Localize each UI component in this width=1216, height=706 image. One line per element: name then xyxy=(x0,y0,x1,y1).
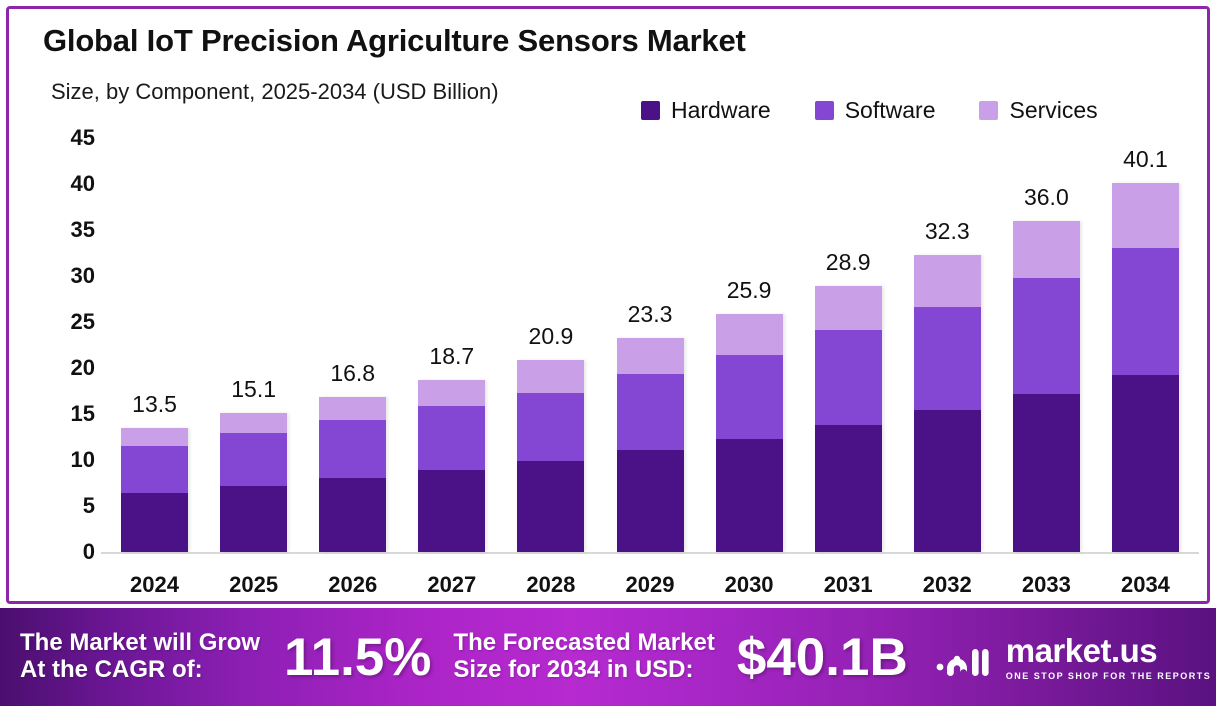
bar-segment-services[interactable] xyxy=(220,413,287,433)
bar-segment-services[interactable] xyxy=(517,360,584,393)
forecast-caption-line2: Size for 2034 in USD: xyxy=(453,656,693,683)
bar-stack[interactable] xyxy=(319,397,386,552)
bar-group[interactable]: 16.8 xyxy=(319,397,386,552)
bar-segment-software[interactable] xyxy=(319,420,386,478)
bar-group[interactable]: 18.7 xyxy=(418,380,485,552)
y-axis-tick: 45 xyxy=(71,125,95,151)
forecast-caption: The Forecasted Market Size for 2034 in U… xyxy=(453,630,714,684)
bar-stack[interactable] xyxy=(1112,183,1179,552)
bar-segment-software[interactable] xyxy=(716,355,783,439)
bar-segment-services[interactable] xyxy=(617,338,684,375)
bar-stack[interactable] xyxy=(220,413,287,552)
y-axis-tick: 15 xyxy=(71,401,95,427)
y-axis-tick: 35 xyxy=(71,217,95,243)
bar-segment-hardware[interactable] xyxy=(1112,375,1179,552)
cagr-caption-line1: The Market will Grow xyxy=(20,629,260,656)
bar-total-label: 40.1 xyxy=(1123,146,1168,173)
x-axis-label: 2033 xyxy=(1022,572,1071,598)
bar-segment-software[interactable] xyxy=(617,374,684,449)
y-axis-tick: 25 xyxy=(71,309,95,335)
bar-segment-software[interactable] xyxy=(517,393,584,461)
bar-total-label: 28.9 xyxy=(826,249,871,276)
bar-stack[interactable] xyxy=(121,428,188,552)
y-axis-tick: 10 xyxy=(71,447,95,473)
bar-group[interactable]: 36.0 xyxy=(1013,221,1080,552)
y-axis-tick: 40 xyxy=(71,171,95,197)
bar-segment-software[interactable] xyxy=(914,307,981,410)
cagr-value: 11.5% xyxy=(284,627,431,688)
x-axis-label: 2028 xyxy=(526,572,575,598)
infographic-root: Global IoT Precision Agriculture Sensors… xyxy=(0,0,1216,706)
bar-group[interactable]: 28.9 xyxy=(815,286,882,552)
bar-total-label: 16.8 xyxy=(330,360,375,387)
x-axis-label: 2027 xyxy=(427,572,476,598)
bar-total-label: 36.0 xyxy=(1024,184,1069,211)
bar-segment-hardware[interactable] xyxy=(418,470,485,552)
bar-segment-services[interactable] xyxy=(319,397,386,420)
bar-total-label: 15.1 xyxy=(231,376,276,403)
brand-logo[interactable]: market.us ONE STOP SHOP FOR THE REPORTS xyxy=(936,634,1212,681)
bar-segment-hardware[interactable] xyxy=(815,425,882,552)
bar-stack[interactable] xyxy=(815,286,882,552)
bar-group[interactable]: 32.3 xyxy=(914,255,981,552)
bar-group[interactable]: 23.3 xyxy=(617,338,684,552)
bar-segment-services[interactable] xyxy=(1112,183,1179,248)
bar-total-label: 13.5 xyxy=(132,391,177,418)
y-axis-tick: 30 xyxy=(71,263,95,289)
brand-name: market.us xyxy=(1006,634,1212,667)
forecast-value: $40.1B xyxy=(737,627,908,688)
bar-segment-services[interactable] xyxy=(121,428,188,446)
cagr-caption: The Market will Grow At the CAGR of: xyxy=(20,630,260,684)
bar-stack[interactable] xyxy=(914,255,981,552)
forecast-caption-line1: The Forecasted Market xyxy=(453,629,714,656)
x-axis-label: 2025 xyxy=(229,572,278,598)
bar-segment-services[interactable] xyxy=(815,286,882,330)
bar-segment-software[interactable] xyxy=(121,446,188,493)
y-axis: 051015202530354045 xyxy=(39,9,95,601)
bar-segment-software[interactable] xyxy=(220,433,287,485)
y-axis-tick: 5 xyxy=(83,493,95,519)
chart-card: Global IoT Precision Agriculture Sensors… xyxy=(9,9,1207,601)
brand-tagline: ONE STOP SHOP FOR THE REPORTS xyxy=(1006,671,1212,681)
x-axis-label: 2030 xyxy=(725,572,774,598)
brand-words: market.us ONE STOP SHOP FOR THE REPORTS xyxy=(1006,634,1212,681)
bar-stack[interactable] xyxy=(517,360,584,552)
bar-segment-services[interactable] xyxy=(418,380,485,406)
bar-segment-software[interactable] xyxy=(418,406,485,470)
bar-segment-services[interactable] xyxy=(1013,221,1080,278)
bar-segment-software[interactable] xyxy=(815,330,882,425)
bar-stack[interactable] xyxy=(1013,221,1080,552)
bar-segment-software[interactable] xyxy=(1013,278,1080,394)
bar-group[interactable]: 15.1 xyxy=(220,413,287,552)
x-axis-label: 2026 xyxy=(328,572,377,598)
bar-total-label: 32.3 xyxy=(925,218,970,245)
bar-segment-hardware[interactable] xyxy=(517,461,584,552)
chart-frame: Global IoT Precision Agriculture Sensors… xyxy=(6,6,1210,604)
y-axis-tick: 0 xyxy=(83,539,95,565)
bar-segment-services[interactable] xyxy=(914,255,981,307)
bar-total-label: 23.3 xyxy=(628,301,673,328)
bar-segment-hardware[interactable] xyxy=(220,486,287,552)
summary-banner: The Market will Grow At the CAGR of: 11.… xyxy=(0,608,1216,706)
bar-group[interactable]: 20.9 xyxy=(517,360,584,552)
x-axis-label: 2029 xyxy=(626,572,675,598)
bar-segment-services[interactable] xyxy=(716,314,783,355)
bar-segment-hardware[interactable] xyxy=(319,478,386,552)
x-axis-label: 2024 xyxy=(130,572,179,598)
bar-segment-hardware[interactable] xyxy=(716,439,783,552)
bar-total-label: 20.9 xyxy=(529,323,574,350)
bar-segment-hardware[interactable] xyxy=(617,450,684,552)
bar-segment-hardware[interactable] xyxy=(121,493,188,552)
bar-total-label: 25.9 xyxy=(727,277,772,304)
bar-stack[interactable] xyxy=(418,380,485,552)
market-us-logo-icon xyxy=(936,637,994,677)
x-axis-label: 2032 xyxy=(923,572,972,598)
bars-area: 13.5202415.1202516.8202618.7202720.92028… xyxy=(105,9,1195,601)
bar-group[interactable]: 13.5 xyxy=(121,428,188,552)
bar-stack[interactable] xyxy=(716,314,783,552)
cagr-caption-line2: At the CAGR of: xyxy=(20,656,203,683)
bar-group[interactable]: 25.9 xyxy=(716,314,783,552)
bar-segment-hardware[interactable] xyxy=(914,410,981,552)
bar-stack[interactable] xyxy=(617,338,684,552)
bar-segment-hardware[interactable] xyxy=(1013,394,1080,552)
bar-total-label: 18.7 xyxy=(429,343,474,370)
y-axis-tick: 20 xyxy=(71,355,95,381)
bar-segment-software[interactable] xyxy=(1112,248,1179,375)
x-axis-label: 2031 xyxy=(824,572,873,598)
chart-plot-area: 051015202530354045 13.5202415.1202516.82… xyxy=(9,9,1210,601)
x-axis-label: 2034 xyxy=(1121,572,1170,598)
bar-group[interactable]: 40.1 xyxy=(1112,183,1179,552)
